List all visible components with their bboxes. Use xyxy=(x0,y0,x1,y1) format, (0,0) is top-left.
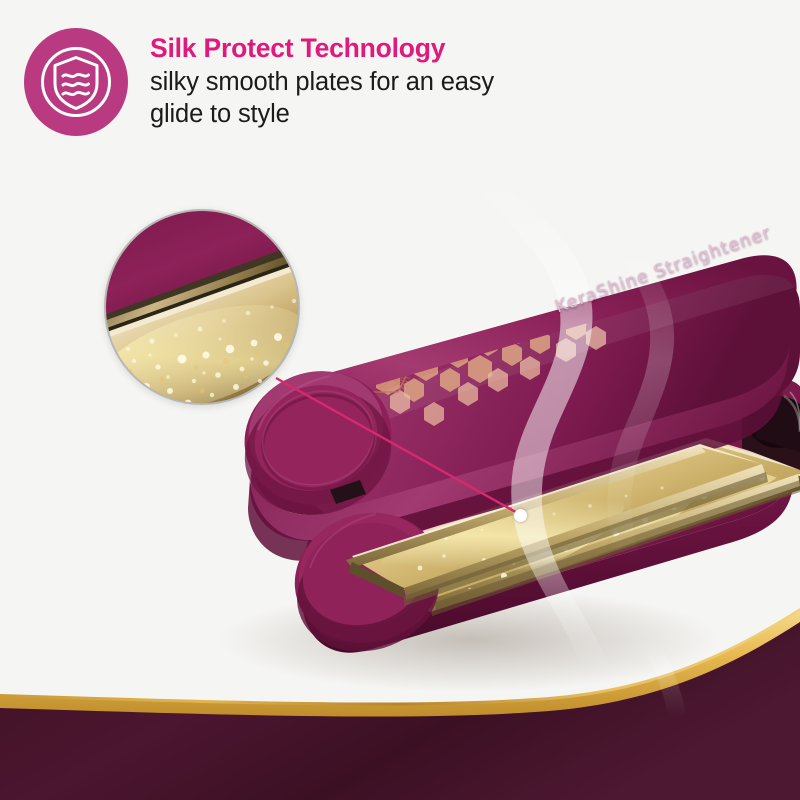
feature-title: Silk Protect Technology xyxy=(150,34,494,64)
callout-pointer-endpoint-dot xyxy=(514,509,527,522)
product-feature-banner: KeraShine Straightener xyxy=(0,0,800,800)
feature-callout: Silk Protect Technology silky smooth pla… xyxy=(24,28,764,160)
plate-surface-magnifier xyxy=(104,209,300,405)
feature-subtitle-line-1: silky smooth plates for an easy xyxy=(150,66,494,98)
feature-subtitle-line-2: glide to style xyxy=(150,98,494,130)
silk-protect-shield-icon xyxy=(24,28,128,136)
feature-text-block: Silk Protect Technology silky smooth pla… xyxy=(150,28,494,130)
